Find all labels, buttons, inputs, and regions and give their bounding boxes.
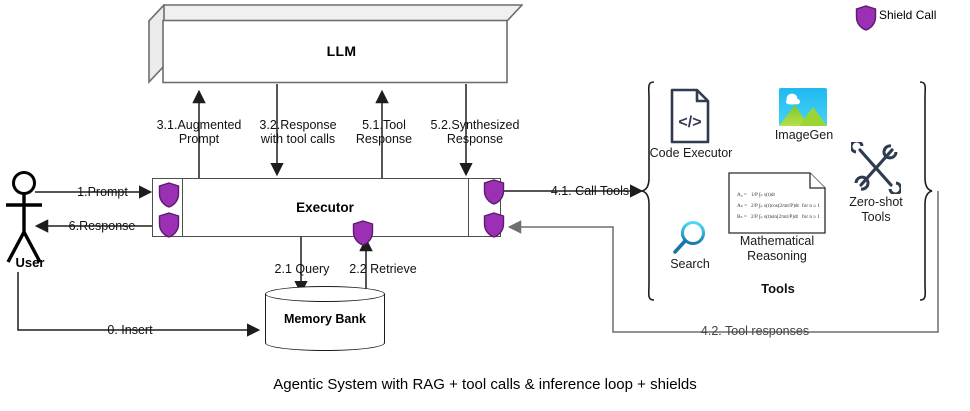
legend: Shield Call — [855, 5, 965, 27]
tools-left-brace — [640, 80, 656, 302]
shield-icon[interactable] — [483, 179, 505, 205]
memory-bank-node[interactable]: Memory Bank — [265, 286, 385, 351]
edge-0-insert — [18, 272, 258, 330]
edge-label-5-1: 5.1.Tool Response — [340, 118, 428, 146]
edge-label-5-2: 5.2.Synthesized Response — [420, 118, 530, 146]
svg-text:A₀ =: A₀ = — [737, 192, 747, 198]
tool-label-code-executor: Code Executor — [648, 146, 734, 161]
tools-group-label: Tools — [718, 282, 838, 296]
llm-label: LLM — [162, 20, 521, 82]
svg-text:Bₙ =: Bₙ = — [737, 214, 747, 220]
magnifier-icon[interactable] — [670, 218, 710, 258]
edge-label-4-1-call-tools: 4.1. Call Tools — [535, 184, 645, 198]
tool-label-imagegen: ImageGen — [768, 128, 840, 143]
user-label: User — [0, 255, 60, 270]
crossed-wrenches-icon[interactable] — [851, 142, 901, 194]
shield-icon[interactable] — [158, 182, 180, 208]
svg-text:2/P ∫ₚ s(t)cos(2πnt/P)dt: 2/P ∫ₚ s(t)cos(2πnt/P)dt — [751, 202, 799, 209]
executor-right-divider — [468, 178, 469, 237]
edge-label-1-prompt: 1.Prompt — [55, 185, 150, 199]
edge-label-6-response: 6.Response — [52, 219, 152, 233]
shield-icon[interactable] — [483, 212, 505, 238]
edge-label-0-insert: 0. Insert — [70, 323, 190, 337]
svg-text:</>: </> — [678, 114, 701, 131]
shield-icon — [855, 5, 877, 31]
edge-label-2-1-query: 2.1 Query — [262, 262, 342, 276]
svg-text:Aₙ =: Aₙ = — [737, 203, 747, 209]
svg-text:for n ≥ 1: for n ≥ 1 — [802, 213, 820, 220]
legend-label: Shield Call — [879, 8, 936, 22]
math-document-icon[interactable]: A₀ = 1/P ∫ₚ s(t)dt Aₙ = 2/P ∫ₚ s(t)cos(2… — [728, 172, 826, 234]
image-icon[interactable] — [779, 88, 827, 126]
executor-label: Executor — [182, 178, 468, 237]
svg-text:for n ≥ 1: for n ≥ 1 — [802, 202, 820, 209]
llm-node[interactable]: LLM — [148, 4, 523, 84]
edge-label-2-2-retrieve: 2.2 Retrieve — [338, 262, 428, 276]
tools-right-brace — [918, 80, 934, 302]
memory-bank-label: Memory Bank — [265, 294, 385, 343]
tool-label-search: Search — [661, 257, 719, 272]
shield-icon[interactable] — [352, 220, 374, 246]
edge-label-4-2-tool-responses: 4.2. Tool responses — [665, 324, 845, 338]
tool-label-mathematical-reasoning: Mathematical Reasoning — [722, 234, 832, 263]
svg-text:2/P ∫ₚ s(t)sin(2πnt/P)dt: 2/P ∫ₚ s(t)sin(2πnt/P)dt — [751, 213, 799, 220]
shield-icon[interactable] — [158, 212, 180, 238]
figure-caption: Agentic System with RAG + tool calls & i… — [0, 376, 970, 393]
tool-label-zero-shot-tools: Zero-shot Tools — [843, 195, 909, 224]
code-document-icon[interactable]: </> — [669, 88, 711, 144]
svg-text:1/P ∫ₚ s(t)dt: 1/P ∫ₚ s(t)dt — [751, 191, 775, 198]
